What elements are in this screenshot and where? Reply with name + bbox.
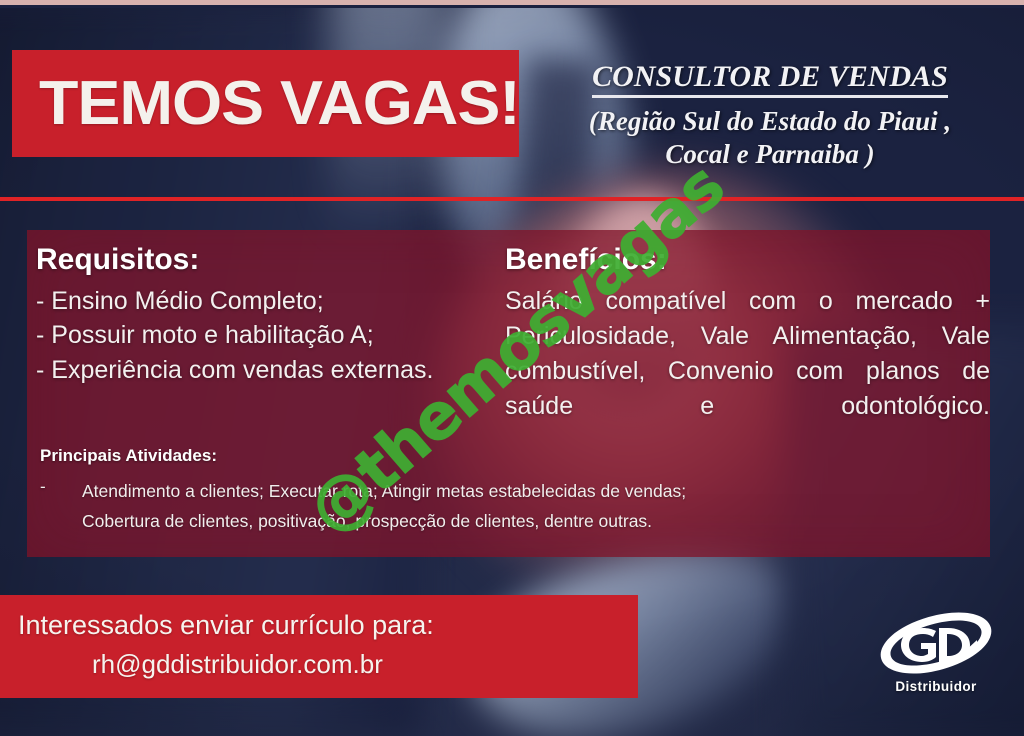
benefits-column: Benefícios: Salário compatível com o mer… (505, 243, 992, 459)
logo-wordmark: Distribuidor (876, 679, 996, 694)
header-divider-line (0, 197, 1024, 201)
job-role: CONSULTOR DE VENDAS (592, 60, 948, 98)
activities-line-1: Atendimento a clientes; Executar rota; A… (82, 477, 686, 506)
contact-email[interactable]: rh@gddistribuidor.com.br (92, 649, 383, 680)
benefits-text: Salário compatível com o mercado + Peric… (505, 284, 992, 459)
contact-band: Interessados enviar currículo para: rh@g… (0, 595, 638, 698)
job-region: (Região Sul do Estado do Piaui , Cocal e… (520, 105, 1020, 171)
company-logo: Distribuidor (876, 612, 996, 698)
activities-bullet: - (40, 477, 82, 536)
requirements-heading: Requisitos: (36, 243, 486, 278)
requirement-item: - Possuir moto e habilitação A; (36, 318, 486, 353)
contact-title: Interessados enviar currículo para: (18, 609, 434, 641)
job-region-line-1: (Região Sul do Estado do Piaui , (542, 105, 998, 138)
top-border-inner (0, 5, 1024, 8)
job-title-block: CONSULTOR DE VENDAS (Região Sul do Estad… (520, 60, 1020, 171)
headline-banner: TEMOS VAGAS! (12, 50, 519, 157)
job-poster: TEMOS VAGAS! CONSULTOR DE VENDAS (Região… (0, 0, 1024, 736)
activities-text: Atendimento a clientes; Executar rota; A… (82, 477, 686, 536)
activities-heading: Principais Atividades: (40, 446, 940, 466)
requirement-item: - Experiência com vendas externas. (36, 353, 486, 388)
activities-line-2: Cobertura de clientes, positivação, pros… (82, 507, 686, 536)
requirements-column: Requisitos: - Ensino Médio Completo; - P… (36, 243, 486, 387)
activities-row: - Atendimento a clientes; Executar rota;… (40, 477, 940, 536)
activities-section: Principais Atividades: - Atendimento a c… (40, 446, 940, 536)
gd-monogram-icon (876, 612, 996, 678)
job-region-line-2: Cocal e Parnaiba ) (542, 138, 998, 171)
headline-text: TEMOS VAGAS! (12, 73, 520, 135)
requirement-item: - Ensino Médio Completo; (36, 284, 486, 319)
benefits-heading: Benefícios: (505, 243, 992, 278)
